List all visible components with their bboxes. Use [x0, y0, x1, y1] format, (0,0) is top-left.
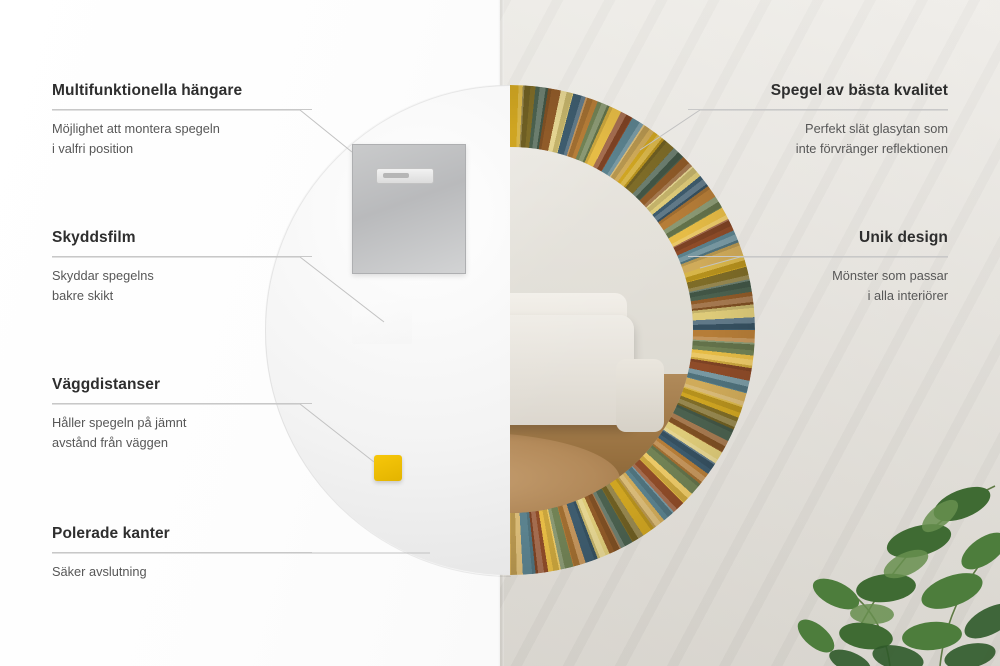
callout-spacers: Väggdistanser Håller spegeln på jämnt av…: [52, 376, 312, 453]
callout-spacers-description: Håller spegeln på jämnt avstånd från väg…: [52, 413, 312, 453]
callout-design-rule: [688, 256, 948, 257]
callout-edges-description: Säker avslutning: [52, 562, 312, 582]
callout-film-description: Skyddar spegelns bakre skikt: [52, 266, 312, 306]
callout-design: Unik design Mönster som passar i alla in…: [688, 229, 948, 306]
callout-quality-rule: [688, 109, 948, 110]
callout-film: Skyddsfilm Skyddar spegelns bakre skikt: [52, 229, 312, 306]
callout-quality-description: Perfekt slät glasytan som inte förvränge…: [688, 119, 948, 159]
protective-film-area: [352, 300, 412, 344]
callout-hangers-description: Möjlighet att montera spegeln i valfri p…: [52, 119, 312, 159]
hanger-mounting-plate: [352, 144, 466, 274]
callout-design-title: Unik design: [688, 229, 948, 247]
callout-film-rule: [52, 256, 312, 257]
callout-quality: Spegel av bästa kvalitet Perfekt slät gl…: [688, 82, 948, 159]
product-feature-diagram: Multifunktionella hängare Möjlighet att …: [0, 0, 1000, 666]
callout-edges-rule: [52, 552, 312, 553]
callout-hangers: Multifunktionella hängare Möjlighet att …: [52, 82, 312, 159]
callout-spacers-title: Väggdistanser: [52, 376, 312, 394]
mirror-illustration: [265, 85, 755, 575]
keyhole-slot: [376, 168, 434, 184]
callout-edges: Polerade kanter Säker avslutning: [52, 525, 312, 582]
callout-spacers-rule: [52, 403, 312, 404]
callout-hangers-rule: [52, 109, 312, 110]
callout-edges-title: Polerade kanter: [52, 525, 312, 543]
callout-quality-title: Spegel av bästa kvalitet: [688, 82, 948, 100]
wall-spacer: [374, 455, 402, 481]
callout-design-description: Mönster som passar i alla interiörer: [688, 266, 948, 306]
callout-film-title: Skyddsfilm: [52, 229, 312, 247]
callout-hangers-title: Multifunktionella hängare: [52, 82, 312, 100]
